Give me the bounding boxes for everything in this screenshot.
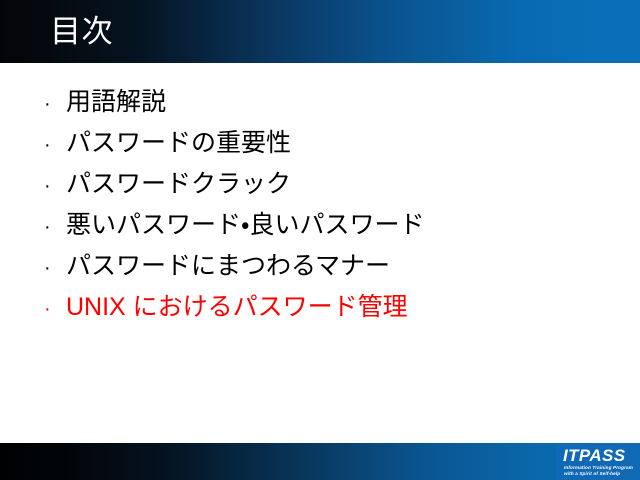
bullet-marker-icon: · bbox=[44, 289, 66, 330]
bullet-marker-icon: · bbox=[44, 166, 66, 207]
list-item: · 悪いパスワード・良いパスワード bbox=[44, 205, 425, 246]
itpass-logo-wordmark: ITPASS bbox=[563, 447, 626, 464]
list-item: · パスワードにまつわるマナー bbox=[44, 246, 425, 287]
bullet-marker-icon: · bbox=[44, 84, 66, 125]
list-item-label: パスワードクラック bbox=[66, 164, 291, 205]
itpass-logo-tagline-line-2: with a Spirit of Self-help bbox=[564, 471, 638, 477]
slide-footer-band bbox=[0, 443, 640, 480]
slide-canvas: 目次 · 用語解説 · パスワードの重要性 · パスワードクラック · 悪いパス… bbox=[0, 0, 640, 480]
slide-header-band: 目次 bbox=[0, 0, 640, 63]
bullet-marker-icon: · bbox=[44, 207, 66, 248]
itpass-logo-tagline: Information Training Program with a Spir… bbox=[564, 465, 638, 476]
list-item-label: UNIX におけるパスワード管理 bbox=[66, 287, 408, 328]
list-item: · パスワードの重要性 bbox=[44, 123, 425, 164]
list-item-label: パスワードにまつわるマナー bbox=[66, 246, 390, 287]
list-item: · 用語解説 bbox=[44, 82, 425, 123]
page-title: 目次 bbox=[50, 12, 113, 52]
itpass-logo: ITPASS Information Training Program with… bbox=[556, 444, 640, 480]
list-item: · パスワードクラック bbox=[44, 164, 425, 205]
list-item-label: パスワードの重要性 bbox=[66, 123, 291, 164]
list-item-label: 悪いパスワード・良いパスワード bbox=[66, 205, 425, 246]
slide-content-area: · 用語解説 · パスワードの重要性 · パスワードクラック · 悪いパスワード… bbox=[0, 63, 640, 443]
bullet-marker-icon: · bbox=[44, 248, 66, 289]
list-item-label: 用語解説 bbox=[66, 82, 166, 123]
list-item-highlighted: · UNIX におけるパスワード管理 bbox=[44, 287, 425, 328]
itpass-logo-tagline-line-1: Information Training Program bbox=[564, 465, 638, 471]
agenda-list: · 用語解説 · パスワードの重要性 · パスワードクラック · 悪いパスワード… bbox=[44, 82, 425, 328]
bullet-marker-icon: · bbox=[44, 125, 66, 166]
